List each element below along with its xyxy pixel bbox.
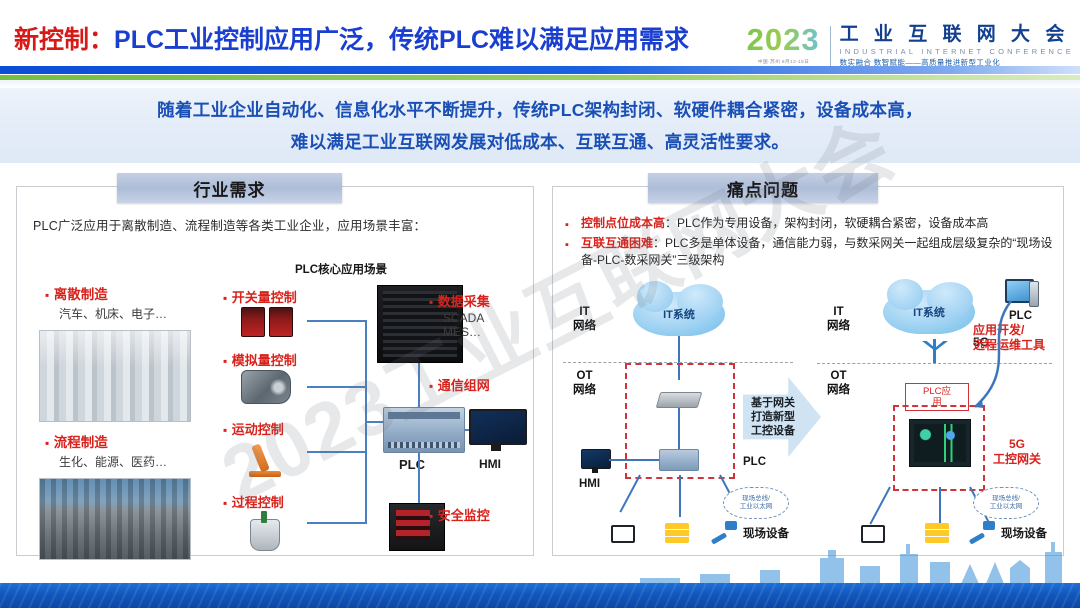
pain-points-header: 痛点问题 bbox=[648, 173, 878, 203]
control-type-process: ▪ 过程控制 bbox=[223, 492, 284, 512]
page-title: 新控制：PLC工业控制应用广泛，传统PLC难以满足应用需求 bbox=[14, 20, 689, 56]
toggle-switch-icon bbox=[241, 307, 293, 337]
footer-bar bbox=[0, 583, 1080, 608]
conn-plc-dev2-before bbox=[679, 475, 681, 517]
conn-gw-dev1-after bbox=[869, 487, 890, 525]
pain-point-2-title: 互联互通困难 bbox=[581, 236, 653, 250]
pain-point-1-title: 控制点位成本高 bbox=[581, 216, 665, 230]
pain-point-1: ▪ 控制点位成本高：PLC作为专用设备，架构封闭，软硬耦合紧密，设备成本高 bbox=[565, 215, 1055, 232]
pain-point-2: ▪ 互联互通困难：PLC多是单体设备，通信能力弱，与数采网关一起组成层级复杂的“… bbox=[565, 235, 1055, 269]
logo-year: 2023 bbox=[747, 24, 820, 56]
bullet-icon: ▪ bbox=[223, 291, 227, 305]
5g-gateway-device-icon bbox=[909, 419, 971, 467]
transition-arrow-label: 基于网关 打造新型 工控设备 bbox=[751, 396, 795, 438]
industry-demand-panel: 行业需求 PLC广泛应用于离散制造、流程制造等各类工业企业，应用场景丰富： PL… bbox=[16, 186, 534, 556]
bullet-icon: ▪ bbox=[565, 237, 569, 254]
conn-hmi-plc-before bbox=[609, 459, 659, 461]
logo-text-block: 工 业 互 联 网 大 会 INDUSTRIAL INTERNET CONFER… bbox=[840, 24, 1074, 68]
page-title-prefix: 新控制： bbox=[14, 26, 114, 54]
pain-points-panel: 痛点问题 ▪ 控制点位成本高：PLC作为专用设备，架构封闭，软硬耦合紧密，设备成… bbox=[552, 186, 1064, 556]
industry-discrete: ▪ 离散制造 汽车、机床、电子… bbox=[45, 283, 167, 322]
hmi-monitor-icon bbox=[469, 409, 523, 451]
application-data-acquisition: ▪ 数据采集 SCADA MES… bbox=[429, 291, 490, 339]
control-type-motion-label: 运动控制 bbox=[232, 422, 284, 437]
core-scenarios-title: PLC核心应用场景 bbox=[295, 261, 387, 277]
city-skyline-decoration bbox=[0, 538, 1080, 586]
hmi-icon-before bbox=[581, 449, 609, 473]
banner-line-1: 随着工业企业自动化、信息化水平不断提升，传统PLC架构封闭、软硬件耦合紧密，设备… bbox=[157, 97, 923, 122]
5g-gateway-label: 5G 工控网关 bbox=[993, 437, 1041, 467]
industry-demand-header-label: 行业需求 bbox=[194, 176, 266, 201]
fieldbus-cloud-after: 现场总线/ 工业以太网 bbox=[973, 487, 1039, 519]
it-network-label-before: IT 网络 bbox=[573, 305, 596, 333]
plc-label-before: PLC bbox=[743, 455, 766, 470]
industry-process-desc: 生化、能源、医药… bbox=[59, 453, 167, 470]
logo-year-subtitle: 中国·苏州 8月12-15日 bbox=[748, 58, 817, 65]
fieldbus-cloud-before: 现场总线/ 工业以太网 bbox=[723, 487, 789, 519]
industry-demand-header: 行业需求 bbox=[117, 173, 342, 203]
page-title-main: PLC工业控制应用广泛，传统PLC难以满足应用需求 bbox=[114, 26, 689, 54]
header-fade bbox=[0, 80, 1080, 88]
industry-discrete-name: 离散制造 bbox=[54, 287, 108, 302]
control-type-process-label: 过程控制 bbox=[232, 495, 284, 510]
wire-digital bbox=[307, 320, 367, 322]
application-networking: ▪ 通信组网 bbox=[429, 375, 490, 395]
hmi-device-label: HMI bbox=[479, 457, 501, 471]
logo-english-name: INDUSTRIAL INTERNET CONFERENCE bbox=[840, 46, 1074, 57]
application-safety-monitoring-label: 安全监控 bbox=[438, 508, 490, 523]
bullet-icon: ▪ bbox=[429, 509, 433, 523]
bullet-icon: ▪ bbox=[223, 354, 227, 368]
bullet-icon: ▪ bbox=[223, 423, 227, 437]
bullet-icon: ▪ bbox=[45, 288, 49, 302]
summary-banner: 随着工业企业自动化、信息化水平不断提升，传统PLC架构封闭、软硬件耦合紧密，设备… bbox=[0, 88, 1080, 163]
bullet-icon: ▪ bbox=[429, 379, 433, 393]
control-type-motion: ▪ 运动控制 bbox=[223, 419, 284, 439]
it-network-label-after: IT 网络 bbox=[827, 305, 850, 333]
industry-demand-lead: PLC广泛应用于离散制造、流程制造等各类工业企业，应用场景丰富： bbox=[33, 215, 426, 234]
ot-network-label-after: OT 网络 bbox=[827, 369, 850, 397]
transition-arrow: 基于网关 打造新型 工控设备 bbox=[743, 377, 821, 457]
control-type-digital: ▪ 开关量控制 bbox=[223, 287, 297, 307]
fieldbus-cloud-after-label: 现场总线/ 工业以太网 bbox=[990, 495, 1023, 511]
control-type-analog-label: 模拟量控制 bbox=[232, 353, 297, 368]
logo-year-block: 2023 中国·苏州 8月12-15日 bbox=[747, 24, 830, 65]
it-system-cloud-before-label: IT系统 bbox=[663, 306, 695, 322]
hmi-label-before: HMI bbox=[579, 477, 600, 492]
conn-plc-dev1-before bbox=[619, 475, 640, 513]
robot-arm-icon bbox=[243, 437, 289, 477]
slide-header: 新控制：PLC工业控制应用广泛，传统PLC难以满足应用需求 2023 中国·苏州… bbox=[0, 0, 1080, 88]
wire-server-to-plc bbox=[418, 363, 420, 407]
plc-icon-before bbox=[659, 449, 699, 471]
pain-points-header-label: 痛点问题 bbox=[727, 176, 799, 201]
wire-process bbox=[307, 522, 367, 524]
logo-chinese-name: 工 业 互 联 网 大 会 bbox=[840, 24, 1074, 46]
control-type-digital-label: 开关量控制 bbox=[232, 290, 297, 305]
conn-gateway-plc-before bbox=[678, 408, 680, 452]
wire-bus-to-plc bbox=[365, 421, 385, 423]
banner-line-2: 难以满足工业互联网发展对低成本、互联互通、高灵活性要求。 bbox=[291, 129, 789, 154]
application-networking-label: 通信组网 bbox=[438, 378, 490, 393]
application-data-acquisition-desc: SCADA MES… bbox=[443, 311, 490, 339]
application-safety-monitoring: ▪ 安全监控 bbox=[429, 505, 490, 525]
plc-device-icon bbox=[383, 407, 465, 453]
it-system-cloud-before: IT系统 bbox=[633, 292, 725, 336]
wire-plc-to-safety bbox=[418, 453, 420, 503]
ot-network-label-before: OT 网络 bbox=[573, 369, 596, 397]
industry-process-name: 流程制造 bbox=[54, 435, 108, 450]
application-data-acquisition-label: 数据采集 bbox=[438, 294, 490, 309]
bullet-icon: ▪ bbox=[45, 436, 49, 450]
it-system-cloud-after-label: IT系统 bbox=[913, 304, 945, 320]
fieldbus-cloud-before-label: 现场总线/ 工业以太网 bbox=[740, 495, 773, 511]
bullet-icon: ▪ bbox=[223, 496, 227, 510]
data-gateway-icon-before bbox=[656, 392, 703, 408]
bullet-icon: ▪ bbox=[565, 217, 569, 234]
industry-discrete-desc: 汽车、机床、电子… bbox=[59, 305, 167, 322]
industry-process: ▪ 流程制造 生化、能源、医药… bbox=[45, 431, 167, 470]
bullet-icon: ▪ bbox=[429, 295, 433, 309]
motor-icon bbox=[241, 370, 291, 404]
discrete-manufacturing-photo bbox=[39, 330, 191, 422]
pain-point-1-text: ：PLC作为专用设备，架构封闭，软硬耦合紧密，设备成本高 bbox=[665, 216, 988, 230]
control-type-analog: ▪ 模拟量控制 bbox=[223, 350, 297, 370]
wire-motion bbox=[307, 451, 367, 453]
wire-analog bbox=[307, 386, 367, 388]
plc-device-label: PLC bbox=[399, 457, 425, 472]
header-rule-blue bbox=[0, 66, 1080, 74]
